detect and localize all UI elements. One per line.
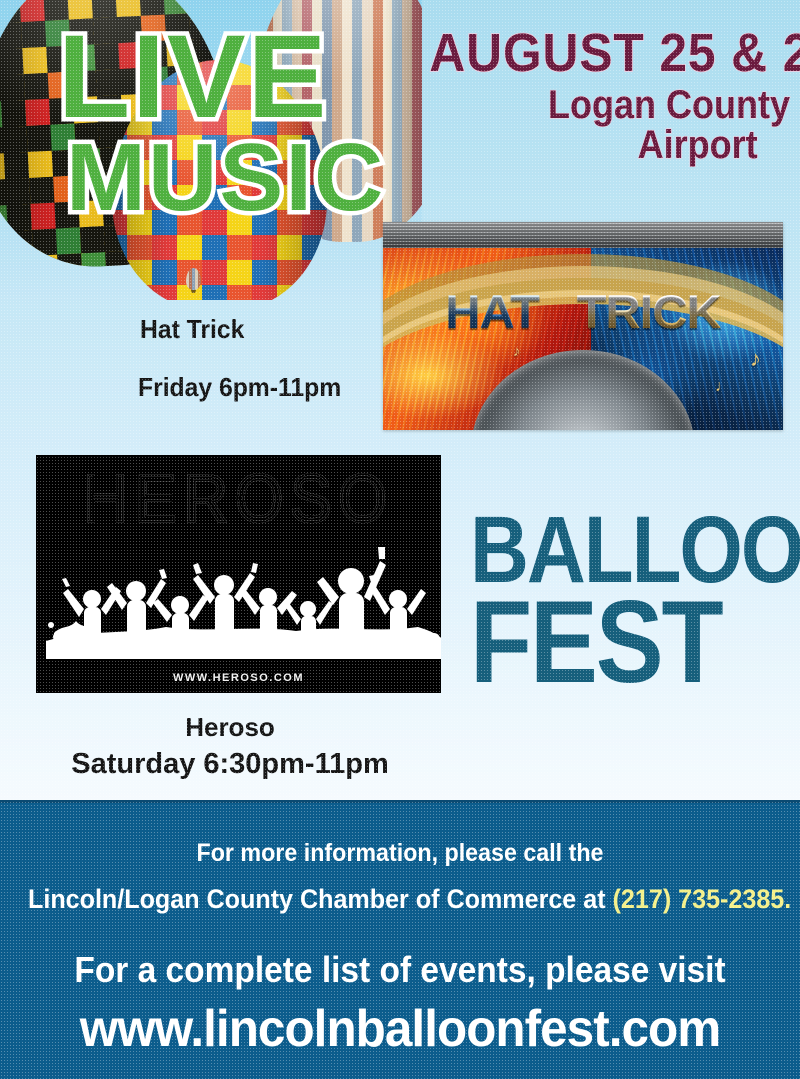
music-note-icon: ♪: [513, 343, 521, 360]
music-note-icon: ♩: [715, 378, 731, 396]
event-venue: Logan County Airport: [437, 85, 790, 165]
event-header: AUGUST 25 & 26 Logan County Airport: [398, 26, 790, 165]
event-date: AUGUST 25 & 26: [429, 26, 790, 81]
venue-line-1: Logan County: [548, 83, 790, 127]
trick-word: TRICK: [577, 285, 721, 338]
footer-line-3: For a complete list of events, please vi…: [28, 949, 772, 991]
banner-top-bar: [383, 222, 783, 248]
fest-word: FEST: [470, 593, 800, 694]
music-note-icon: ♪: [750, 346, 761, 372]
hat-word: HAT: [445, 285, 539, 338]
website-url[interactable]: www.lincolnballoonfest.com: [20, 999, 780, 1059]
heroso-banner: HEROSO HEROSO: [36, 455, 441, 693]
hat-trick-name: Hat Trick: [140, 314, 244, 345]
footer-line-2: Lincoln/Logan County Chamber of Commerce…: [28, 884, 772, 915]
balloon-shading: [112, 60, 327, 300]
crowd-silhouette-graphic: [46, 529, 441, 659]
hat-trick-banner: ♪ ♩ ♪ HAT TRICK: [383, 222, 783, 430]
distant-balloon: [186, 268, 201, 290]
footer-info-band: For more information, please call the Li…: [0, 800, 800, 1079]
venue-line-2: Airport: [437, 125, 790, 165]
heroso-wordmark: HEROSO HEROSO: [36, 467, 441, 534]
balloon-fest-title: BALLOON FEST: [470, 510, 800, 675]
chamber-text: Lincoln/Logan County Chamber of Commerce…: [28, 884, 613, 914]
hot-air-balloon-photo: [0, 0, 422, 300]
hat-trick-wordmark: HAT TRICK: [383, 288, 783, 335]
balloon-fest-poster: LIVE MUSIC AUGUST 25 & 26 Logan County A…: [0, 0, 800, 1079]
heroso-name: Heroso: [0, 712, 460, 743]
heroso-url: WWW.HEROSO.COM: [36, 672, 441, 684]
phone-number[interactable]: (217) 735-2385.: [613, 884, 792, 914]
heroso-wordmark-inner: HEROSO: [36, 467, 441, 534]
footer-line-1: For more information, please call the: [28, 839, 772, 868]
rainbow-balloon: [112, 60, 327, 300]
hat-trick-schedule: Friday 6pm-11pm: [138, 372, 341, 403]
heroso-schedule: Saturday 6:30pm-11pm: [0, 748, 460, 781]
